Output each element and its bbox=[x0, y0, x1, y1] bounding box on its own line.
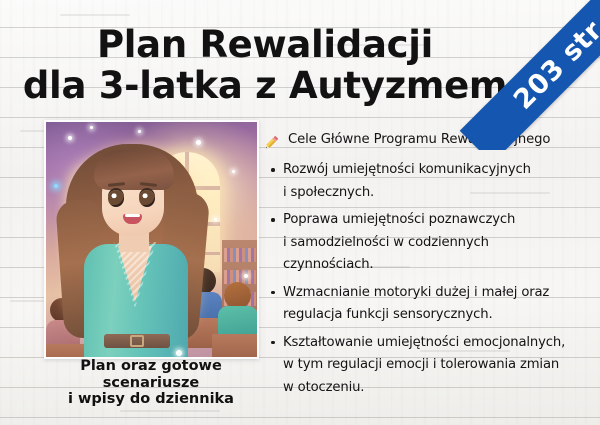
list-item: Poprawa umiejętności poznawczych i samod… bbox=[262, 209, 592, 277]
goal-line: Kształtowanie umiejętności emocjonalnych… bbox=[283, 332, 592, 355]
goal-line: i samodzielności w codziennych bbox=[283, 232, 592, 255]
desk bbox=[212, 334, 257, 357]
wood-grain bbox=[60, 14, 130, 16]
sparkle bbox=[90, 126, 93, 129]
teacher-belt-buckle bbox=[130, 335, 144, 347]
list-item: Wzmacnianie motoryki dużej i małej oraz … bbox=[262, 282, 592, 327]
goal-line: Wzmacnianie motoryki dużej i małej oraz bbox=[283, 282, 592, 305]
caption-line-3: i wpisy do dziennika bbox=[26, 391, 276, 408]
page-count-ribbon: 203 str bbox=[450, 0, 600, 150]
teacher-eye bbox=[108, 190, 124, 207]
sparkle bbox=[68, 136, 72, 140]
goal-line: Rozwój umiejętności komunikacyjnych bbox=[283, 159, 592, 182]
sparkle bbox=[138, 130, 141, 133]
book-row bbox=[224, 248, 256, 262]
sparkle bbox=[244, 274, 248, 278]
teacher-eye bbox=[139, 190, 155, 207]
list-item: Kształtowanie umiejętności emocjonalnych… bbox=[262, 332, 592, 400]
goal-line: Poprawa umiejętności poznawczych bbox=[283, 209, 592, 232]
pencil-icon bbox=[262, 133, 282, 151]
teacher-hair-front bbox=[94, 150, 174, 190]
sparkle bbox=[176, 350, 182, 356]
sparkle bbox=[196, 140, 201, 145]
list-item: Rozwój umiejętności komunikacyjnych i sp… bbox=[262, 159, 592, 204]
sparkle bbox=[232, 170, 235, 173]
sparkle bbox=[54, 184, 58, 188]
poster-canvas: 203 str Plan Rewalidacji dla 3-latka z A… bbox=[0, 0, 600, 425]
goal-line: i społecznych. bbox=[283, 182, 592, 205]
caption-line-2: scenariusze bbox=[26, 375, 276, 392]
ribbon-band: 203 str bbox=[460, 0, 600, 150]
child-head bbox=[224, 282, 251, 309]
ribbon-label: 203 str bbox=[508, 15, 600, 116]
desk bbox=[46, 344, 86, 357]
wood-grain bbox=[120, 410, 220, 412]
illustration-caption: Plan oraz gotowe scenariusze i wpisy do … bbox=[26, 358, 276, 408]
teacher-in-classroom-illustration bbox=[46, 122, 257, 357]
caption-line-1: Plan oraz gotowe bbox=[26, 358, 276, 375]
illustration-frame bbox=[44, 120, 259, 359]
sparkle bbox=[214, 218, 217, 221]
goals-list: Rozwój umiejętności komunikacyjnych i sp… bbox=[262, 159, 592, 399]
goals-section: Cele Główne Programu Rewalidacyjnego Roz… bbox=[262, 132, 592, 404]
goal-line: w otoczeniu. bbox=[283, 377, 592, 400]
goal-line: w tym regulacji emocji i tolerowania zmi… bbox=[283, 354, 592, 377]
goal-line: czynnościach. bbox=[283, 254, 592, 277]
goal-line: regulacja funkcji sensorycznych. bbox=[283, 304, 592, 327]
